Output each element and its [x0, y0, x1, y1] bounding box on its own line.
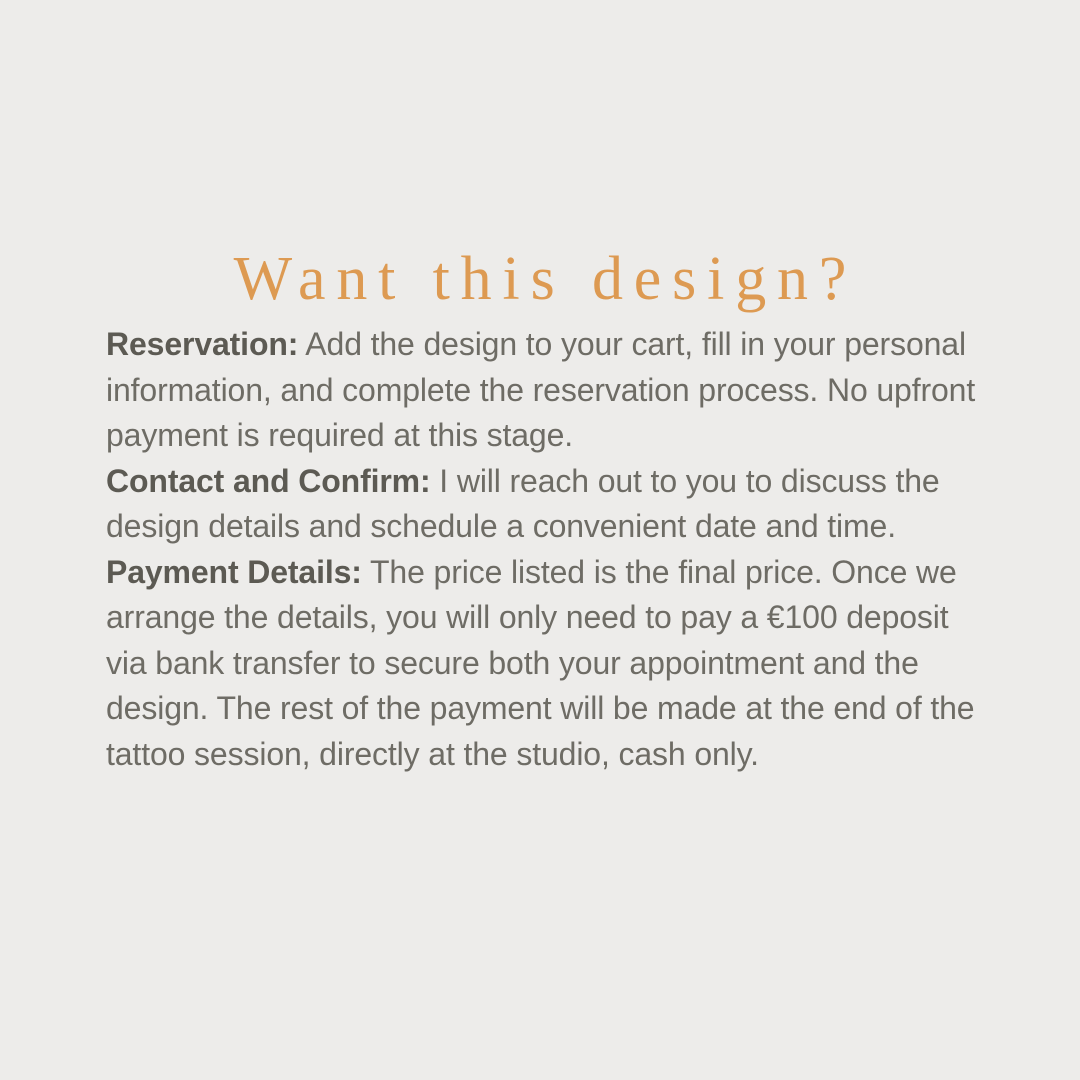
section-reservation-label: Reservation:: [106, 326, 298, 362]
policy-text-block: Reservation: Add the design to your cart…: [106, 322, 986, 777]
section-payment-details-label: Payment Details:: [106, 554, 362, 590]
design-info-card: Want this design? Reservation: Add the d…: [0, 0, 1080, 1080]
section-contact-and-confirm: Contact and Confirm: I will reach out to…: [106, 459, 986, 550]
section-payment-details: Payment Details: The price listed is the…: [106, 550, 986, 778]
page-title: Want this design?: [0, 238, 1080, 320]
section-contact-and-confirm-label: Contact and Confirm:: [106, 463, 431, 499]
section-reservation: Reservation: Add the design to your cart…: [106, 322, 986, 459]
